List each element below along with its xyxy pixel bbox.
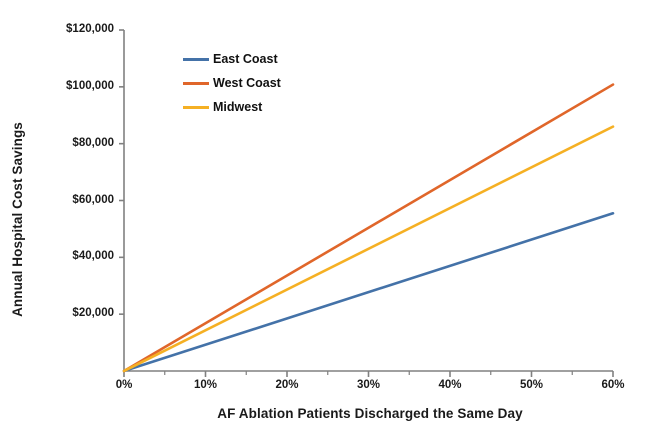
x-tick-label-text: 30% bbox=[339, 379, 399, 391]
series-lines bbox=[124, 85, 613, 371]
legend-item-label: West Coast bbox=[213, 76, 281, 90]
x-tick-label: 0% bbox=[94, 379, 154, 393]
x-tick-label-text: 40% bbox=[420, 379, 480, 391]
y-tick-label: $40,000 bbox=[28, 250, 114, 264]
legend-item[interactable]: West Coast bbox=[183, 71, 281, 95]
x-tick-label: 30% bbox=[339, 379, 399, 393]
legend-item-label: East Coast bbox=[213, 52, 278, 66]
y-tick-label-text: $20,000 bbox=[28, 307, 114, 319]
chart-legend: East CoastWest CoastMidwest bbox=[183, 47, 281, 119]
y-tick-label: $60,000 bbox=[28, 194, 114, 208]
x-tick-label: 60% bbox=[583, 379, 643, 393]
legend-item[interactable]: Midwest bbox=[183, 95, 281, 119]
legend-color-swatch bbox=[183, 58, 209, 61]
x-tick-label: 20% bbox=[257, 379, 317, 393]
series-line-midwest bbox=[124, 127, 613, 371]
series-line-west-coast bbox=[124, 85, 613, 371]
legend-color-swatch bbox=[183, 82, 209, 85]
x-tick-label-text: 0% bbox=[94, 379, 154, 391]
plot-area bbox=[0, 0, 650, 439]
y-tick-label: $100,000 bbox=[28, 80, 114, 94]
y-tick-label-text: $80,000 bbox=[28, 137, 114, 149]
y-tick-label-text: $120,000 bbox=[28, 23, 114, 35]
y-tick-label-text: $40,000 bbox=[28, 250, 114, 262]
x-tick-label: 10% bbox=[176, 379, 236, 393]
x-tick-label: 40% bbox=[420, 379, 480, 393]
y-tick-label-text: $100,000 bbox=[28, 80, 114, 92]
y-tick-label-text: $60,000 bbox=[28, 194, 114, 206]
y-tick-label: $20,000 bbox=[28, 307, 114, 321]
legend-color-swatch bbox=[183, 106, 209, 109]
legend-item[interactable]: East Coast bbox=[183, 47, 281, 71]
x-tick-label-text: 20% bbox=[257, 379, 317, 391]
x-tick-label-text: 10% bbox=[176, 379, 236, 391]
y-tick-label: $120,000 bbox=[28, 23, 114, 37]
x-tick-label-text: 50% bbox=[502, 379, 562, 391]
x-tick-label: 50% bbox=[502, 379, 562, 393]
x-axis-title: AF Ablation Patients Discharged the Same… bbox=[124, 406, 616, 421]
y-tick-label: $80,000 bbox=[28, 137, 114, 151]
legend-item-label: Midwest bbox=[213, 100, 262, 114]
line-chart: Annual Hospital Cost Savings $20,000$40,… bbox=[0, 0, 650, 439]
series-line-east-coast bbox=[124, 213, 613, 371]
x-tick-label-text: 60% bbox=[583, 379, 643, 391]
